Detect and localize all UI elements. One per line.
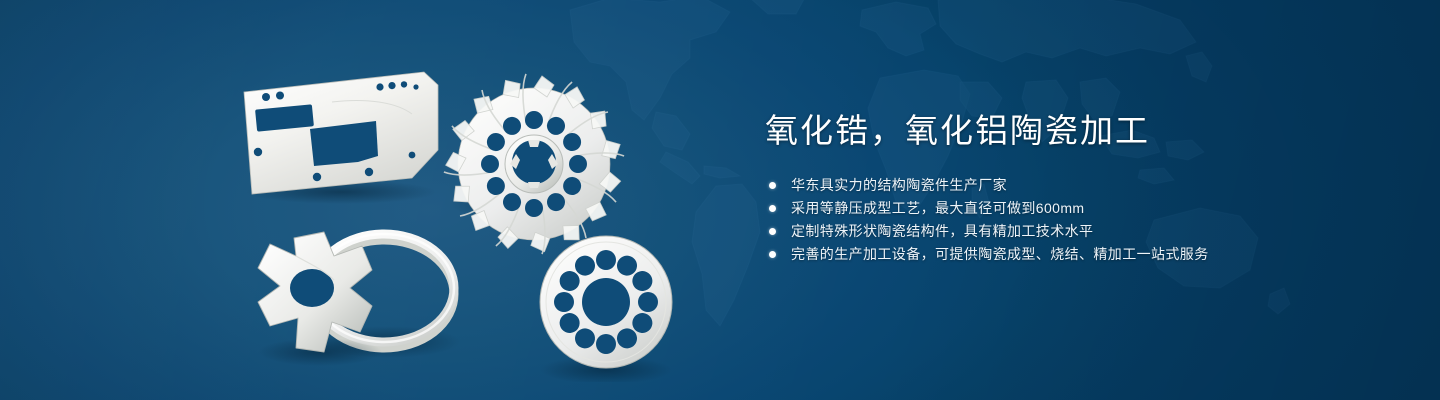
bullet-dot-icon <box>769 205 776 212</box>
feature-item: 定制特殊形状陶瓷结构件，具有精加工技术水平 <box>765 220 1305 243</box>
feature-item: 完善的生产加工设备，可提供陶瓷成型、烧结、精加工一站式服务 <box>765 243 1305 266</box>
feature-item: 华东具实力的结构陶瓷件生产厂家 <box>765 174 1305 197</box>
ceramic-cross-shaped-part <box>258 232 382 366</box>
bullet-dot-icon <box>769 228 776 235</box>
feature-text: 完善的生产加工设备，可提供陶瓷成型、烧结、精加工一站式服务 <box>791 246 1209 262</box>
bullet-dot-icon <box>769 251 776 258</box>
banner-feature-list: 华东具实力的结构陶瓷件生产厂家 采用等静压成型工艺，最大直径可做到600mm 定… <box>765 174 1305 266</box>
ceramic-impeller-disc <box>444 74 624 254</box>
ceramic-products-image <box>236 52 686 382</box>
ceramic-plate-with-cutouts <box>244 72 438 204</box>
feature-text: 华东具实力的结构陶瓷件生产厂家 <box>791 177 1007 193</box>
feature-item: 采用等静压成型工艺，最大直径可做到600mm <box>765 197 1305 220</box>
feature-text: 采用等静压成型工艺，最大直径可做到600mm <box>791 200 1084 216</box>
promo-banner: 氧化锆，氧化铝陶瓷加工 华东具实力的结构陶瓷件生产厂家 采用等静压成型工艺，最大… <box>0 0 1440 400</box>
banner-copy: 氧化锆，氧化铝陶瓷加工 华东具实力的结构陶瓷件生产厂家 采用等静压成型工艺，最大… <box>765 110 1305 266</box>
banner-headline: 氧化锆，氧化铝陶瓷加工 <box>765 110 1305 152</box>
ceramic-perforated-disc <box>540 236 672 382</box>
bullet-dot-icon <box>769 182 776 189</box>
feature-text: 定制特殊形状陶瓷结构件，具有精加工技术水平 <box>791 223 1093 239</box>
